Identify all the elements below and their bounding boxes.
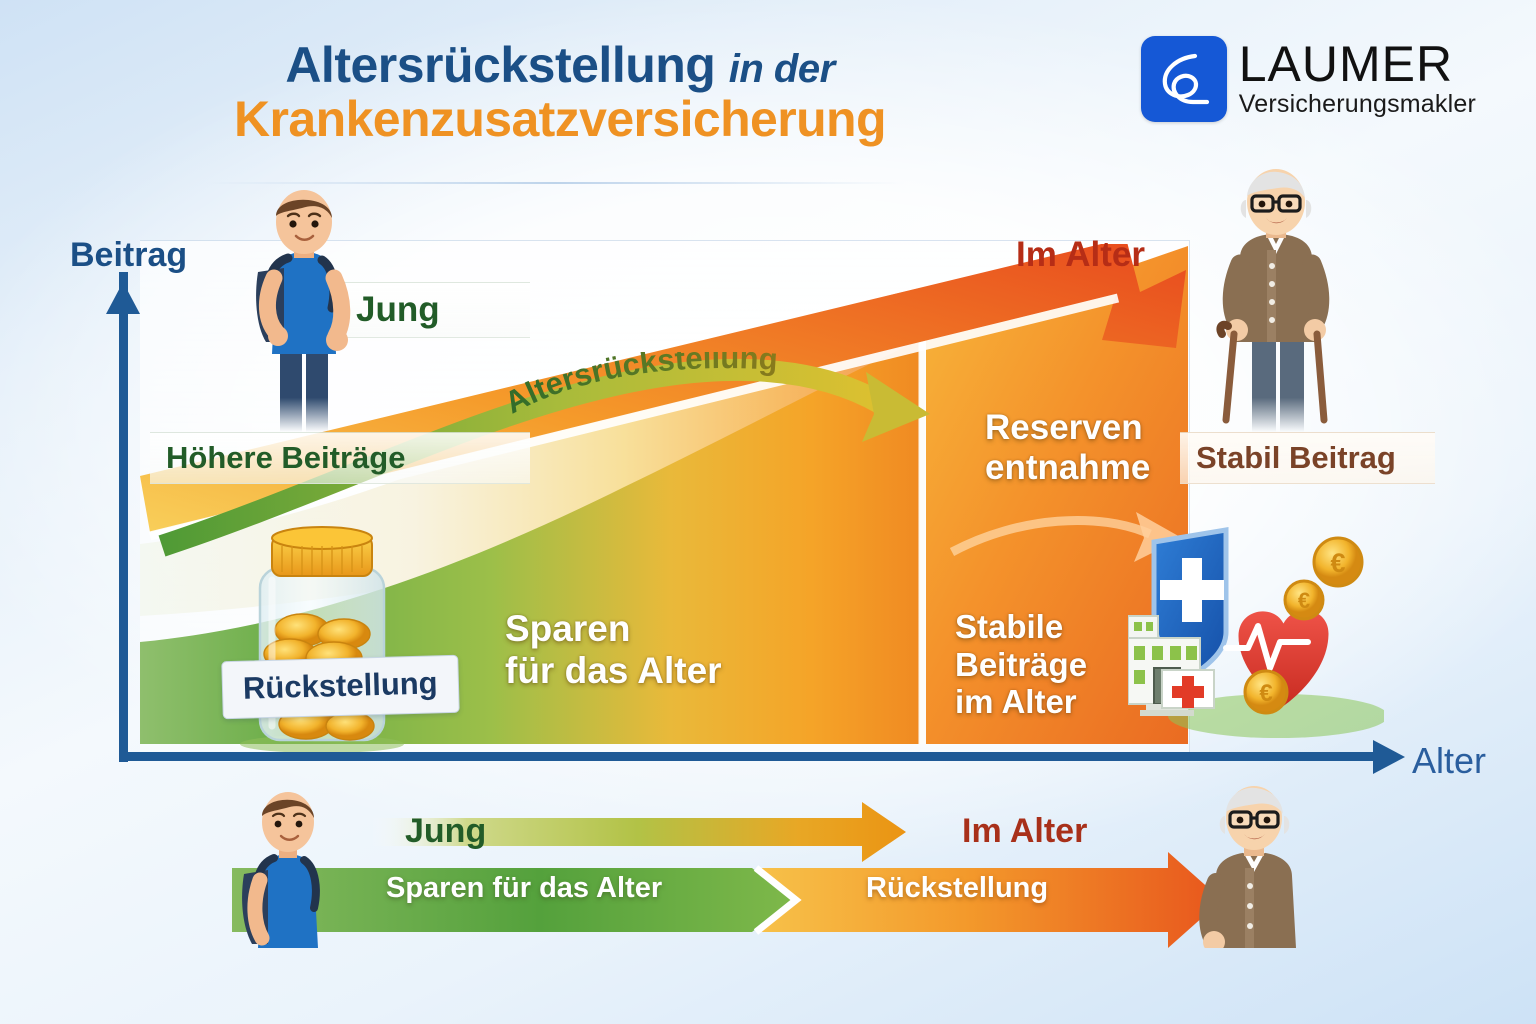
band-label-sparen: Sparen für das Alter — [386, 872, 662, 905]
y-axis-label: Beitrag — [70, 236, 187, 275]
page-title: Altersrückstellung in der Krankenzusatzv… — [130, 38, 990, 146]
script-l-icon — [1141, 36, 1227, 122]
band-label-jung: Jung — [405, 812, 486, 851]
reserven-line-2: entnahme — [985, 448, 1150, 488]
infographic-canvas: Altersrückstellung in der Krankenzusatzv… — [0, 0, 1536, 1024]
chip-hoehere-label: Höhere Beiträge — [166, 440, 405, 476]
logo-text: LAUMER Versicherungsmakler — [1239, 36, 1476, 119]
title-divider — [205, 182, 905, 184]
chip-hoehere-beitraege: Höhere Beiträge — [150, 432, 530, 484]
sparen-line-2: für das Alter — [505, 650, 722, 692]
area-label-sparen: Sparen für das Alter — [505, 608, 722, 692]
title-line-2: Krankenzusatzversicherung — [130, 92, 990, 146]
title-italic: in der — [729, 47, 835, 91]
stabile-line-2: Beiträge — [955, 646, 1087, 684]
band-label-im-alter: Im Alter — [962, 812, 1087, 851]
band-label-rueckstellung: Rückstellung — [866, 872, 1048, 905]
chip-stabil-beitrag: Stabil Beitrag — [1180, 432, 1435, 484]
young-man-illustration-band — [228, 786, 348, 948]
title-main: Altersrückstellung — [285, 37, 715, 93]
elderly-man-illustration-band — [1186, 782, 1322, 948]
logo-name: LAUMER — [1239, 40, 1476, 89]
brand-logo[interactable]: LAUMER Versicherungsmakler — [1141, 36, 1476, 122]
sparen-line-1: Sparen — [505, 608, 722, 650]
svg-text:€: € — [1298, 588, 1310, 613]
y-axis-arrowhead-icon — [106, 282, 140, 314]
elderly-man-cane-illustration — [1204, 166, 1348, 432]
svg-text:€: € — [1330, 548, 1345, 578]
jar-label: Rückstellung — [221, 655, 459, 720]
y-axis-line — [119, 272, 128, 762]
area-label-reservenentnahme: Reserven entnahme — [985, 408, 1150, 488]
insurance-icon-cluster: € € € — [1128, 524, 1384, 752]
svg-text:€: € — [1259, 680, 1272, 707]
reserven-line-1: Reserven — [985, 408, 1150, 448]
chip-stabil-label: Stabil Beitrag — [1196, 440, 1396, 476]
x-axis-line — [124, 752, 1379, 761]
young-man-backpack-illustration — [236, 186, 372, 432]
chip-im-alter: Im Alter — [1016, 235, 1145, 275]
x-axis-label: Alter — [1412, 740, 1486, 782]
logo-subtitle: Versicherungsmakler — [1239, 91, 1476, 119]
stabile-line-1: Stabile — [955, 608, 1087, 646]
stabile-line-3: im Alter — [955, 683, 1087, 721]
title-line-1: Altersrückstellung in der — [130, 38, 990, 92]
area-label-stabile-beitraege: Stabile Beiträge im Alter — [955, 608, 1087, 721]
